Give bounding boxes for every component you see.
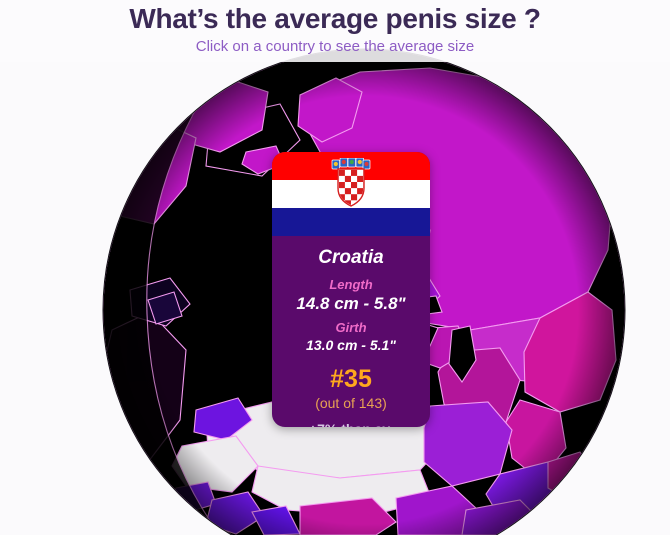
country-scandinavia[interactable] xyxy=(298,78,362,142)
country-nigeria[interactable] xyxy=(300,498,396,535)
app-root: What’s the average penis size ? Click on… xyxy=(0,0,670,535)
checkerboard-shield xyxy=(333,169,370,206)
rank-number: #35 xyxy=(280,364,422,394)
croatia-flag-icon xyxy=(272,152,430,236)
country-venezuela-limb[interactable] xyxy=(130,278,190,326)
globe-terminator-shade xyxy=(103,80,221,535)
country-info-body: Croatia Length 14.8 cm - 5.8" Girth 13.0… xyxy=(272,236,430,427)
country-kenya[interactable] xyxy=(540,496,592,535)
croatia-coat-of-arms-icon xyxy=(330,158,372,208)
girth-label: Girth xyxy=(280,319,422,336)
country-somalia[interactable] xyxy=(548,452,596,502)
country-brazil-limb[interactable] xyxy=(100,312,186,470)
country-congo[interactable] xyxy=(462,500,548,535)
rank-comparison: +7% than av. xyxy=(280,420,422,427)
page-subtitle: Click on a country to see the average si… xyxy=(0,36,670,58)
country-guinea[interactable] xyxy=(206,492,264,534)
country-colombia-limb[interactable] xyxy=(148,292,182,324)
country-ivory-coast[interactable] xyxy=(252,506,300,535)
girth-value: 13.0 cm - 5.1" xyxy=(280,336,422,355)
country-greenland[interactable] xyxy=(160,78,268,152)
length-label: Length xyxy=(280,276,422,293)
country-mali-niger[interactable] xyxy=(252,466,432,516)
country-name: Croatia xyxy=(280,246,422,270)
country-india[interactable] xyxy=(506,400,566,480)
country-sea-caspian[interactable] xyxy=(449,326,476,382)
country-canada-limb[interactable] xyxy=(108,122,196,224)
length-value: 14.8 cm - 5.8" xyxy=(280,293,422,315)
country-ethiopia[interactable] xyxy=(486,462,568,520)
country-middle-east[interactable] xyxy=(438,348,520,432)
country-morocco[interactable] xyxy=(194,398,252,440)
flag-band-blue xyxy=(272,208,430,236)
country-egypt-sudan[interactable] xyxy=(424,402,512,486)
page-header: What’s the average penis size ? Click on… xyxy=(0,0,670,62)
country-senegal[interactable] xyxy=(170,482,216,512)
page-title: What’s the average penis size ? xyxy=(0,2,670,36)
country-chad-car[interactable] xyxy=(396,486,478,535)
country-mauritania[interactable] xyxy=(172,436,258,492)
country-kazakhstan[interactable] xyxy=(466,318,578,382)
globe-bottom-shade xyxy=(140,470,300,535)
crown-shields xyxy=(332,158,370,169)
country-info-card[interactable]: Croatia Length 14.8 cm - 5.8" Girth 13.0… xyxy=(272,152,430,427)
country-mongolia-china[interactable] xyxy=(524,292,616,412)
rank-total: (out of 143) xyxy=(280,394,422,413)
